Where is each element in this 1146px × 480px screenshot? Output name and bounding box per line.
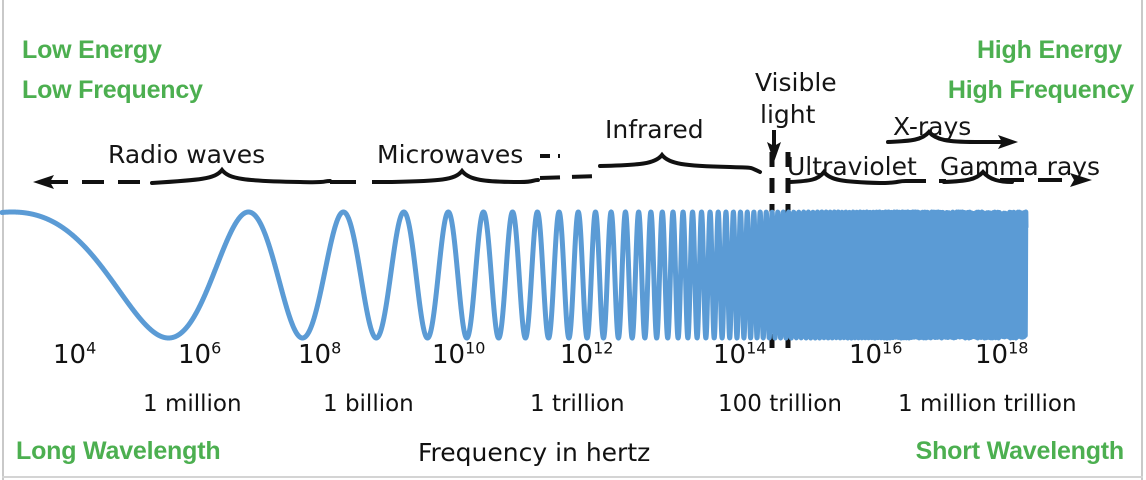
- left-arrowhead-icon: [33, 175, 54, 189]
- tick-exponent: 18: [1008, 338, 1028, 357]
- axis-tick-7: 1018: [975, 340, 1028, 370]
- axis-tick-0: 104: [53, 340, 96, 370]
- axis-tick-3: 1010: [432, 340, 485, 370]
- band-label-ultraviolet: Ultraviolet: [787, 152, 917, 181]
- tick-mantissa: 10: [432, 340, 465, 370]
- frame-left-border: [2, 0, 4, 480]
- electromagnetic-waveform: [2, 212, 1026, 338]
- high-frequency-label: High Frequency: [948, 76, 1134, 105]
- band-label-visible-light-line2: light: [760, 100, 815, 129]
- tick-exponent: 14: [746, 338, 766, 357]
- axis-title: Frequency in hertz: [418, 438, 650, 467]
- low-energy-label: Low Energy: [22, 36, 162, 65]
- tick-exponent: 4: [86, 338, 96, 357]
- frame-right-border: [1141, 0, 1143, 480]
- brace-microwaves: [392, 171, 538, 182]
- high-energy-label: High Energy: [977, 36, 1122, 65]
- axis-tick-1: 106: [178, 340, 221, 370]
- band-label-gamma-rays: Gamma rays: [940, 152, 1100, 181]
- low-frequency-label: Low Frequency: [22, 76, 203, 105]
- brace-infrared: [600, 155, 760, 172]
- tick-mantissa: 10: [849, 340, 882, 370]
- tick-exponent: 8: [331, 338, 341, 357]
- tick-mantissa: 10: [53, 340, 86, 370]
- tick-exponent: 16: [882, 338, 902, 357]
- axis-word-1-million: 1 million: [143, 391, 242, 417]
- axis-word-100-trillion: 100 trillion: [718, 391, 842, 417]
- band-label-infrared: Infrared: [605, 115, 704, 144]
- band-label-microwaves: Microwaves: [377, 140, 523, 169]
- tick-exponent: 12: [593, 338, 613, 357]
- band-label-radio-waves: Radio waves: [108, 140, 265, 169]
- spectrum-axis-dashed-line: [46, 176, 1078, 182]
- tick-mantissa: 10: [975, 340, 1008, 370]
- brace-radio-waves: [152, 170, 330, 183]
- axis-word-1-trillion: 1 trillion: [530, 391, 625, 417]
- band-label-x-rays: X-rays: [893, 112, 971, 141]
- visible-light-arrow-icon: [767, 130, 781, 162]
- tick-mantissa: 10: [298, 340, 331, 370]
- tick-mantissa: 10: [713, 340, 746, 370]
- long-wavelength-label: Long Wavelength: [16, 437, 220, 466]
- tick-exponent: 6: [211, 338, 221, 357]
- axis-tick-4: 1012: [560, 340, 613, 370]
- frame-bottom-border: [2, 476, 1143, 478]
- short-wavelength-label: Short Wavelength: [916, 437, 1124, 466]
- axis-word-1-million-trillion: 1 million trillion: [898, 391, 1077, 417]
- tick-mantissa: 10: [560, 340, 593, 370]
- axis-tick-5: 1014: [713, 340, 766, 370]
- tick-mantissa: 10: [178, 340, 211, 370]
- axis-tick-2: 108: [298, 340, 341, 370]
- axis-word-1-billion: 1 billion: [323, 391, 414, 417]
- tick-exponent: 10: [465, 338, 485, 357]
- band-label-visible-light-line1: Visible: [755, 68, 837, 97]
- axis-tick-6: 1016: [849, 340, 902, 370]
- electromagnetic-spectrum-figure: Low Energy Low Frequency High Energy Hig…: [0, 0, 1146, 480]
